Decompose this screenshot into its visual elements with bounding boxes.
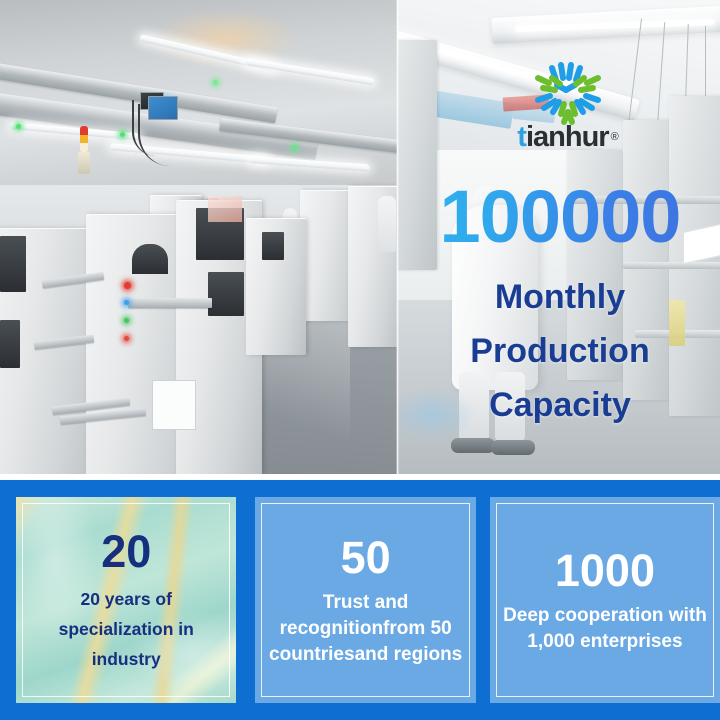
infographic-page: tianhur® 100000 Monthly Production Capac… [0,0,720,720]
hero-number: 100000 [405,176,715,258]
indicator-button [124,336,129,341]
worker-shoe [491,440,535,455]
photo-divider [396,0,399,474]
hero-caption-line-2: Production [405,324,715,378]
status-led [292,145,297,150]
brand-word-rest: ianhur [526,121,609,154]
hero-caption: Monthly Production Capacity [405,270,715,432]
indicator-button [124,318,129,323]
machine-window [208,272,244,316]
cable-carrier [132,244,168,274]
stats-band: 20 20 years of specialization in industr… [0,480,720,720]
machine-vent [0,320,20,368]
brand-logo: tianhur® [498,52,638,158]
emergency-stop-button [124,282,131,289]
indicator-button [124,300,129,305]
status-led [16,124,21,129]
machine-label [152,380,196,430]
stat-description: 20 years of specialization in industry [24,584,228,674]
tianhur-burst-logo-icon [516,52,620,126]
hero-caption-line-3: Capacity [405,378,715,432]
photo-band: tianhur® 100000 Monthly Production Capac… [0,0,720,474]
status-led [213,80,218,85]
stat-card-years-of-specialization[interactable]: 20 20 years of specialization in industr… [16,497,236,703]
stat-description: Deep cooperation with 1,000 enterprises [498,603,712,655]
status-led [120,132,125,137]
machine-window [262,232,284,260]
stat-card-countries-and-regions[interactable]: 50 Trust and recognitionfrom 50 countrie… [255,497,475,703]
warning-sticker [208,196,242,222]
card-inner-border [496,503,714,697]
registered-trademark-icon: ® [611,131,619,143]
stat-value: 50 [341,533,391,583]
machine-vent [0,236,26,292]
hero-stat: 100000 Monthly Production Capacity [405,176,715,432]
brand-word-prefix: t [517,121,526,154]
stat-card-enterprise-cooperation[interactable]: 1000 Deep cooperation with 1,000 enterpr… [490,497,720,703]
andon-signal-lamp [80,126,88,152]
stat-value: 1000 [555,546,655,596]
lamp-base [78,152,90,174]
brand-wordmark: tianhur® [498,120,638,154]
conveyor [128,298,212,308]
stat-value: 20 [101,527,151,577]
smt-production-line-photo [0,0,397,474]
worker [378,196,396,252]
hero-caption-line-1: Monthly [405,270,715,324]
stat-description: Trust and recognitionfrom 50 countriesan… [263,590,467,668]
